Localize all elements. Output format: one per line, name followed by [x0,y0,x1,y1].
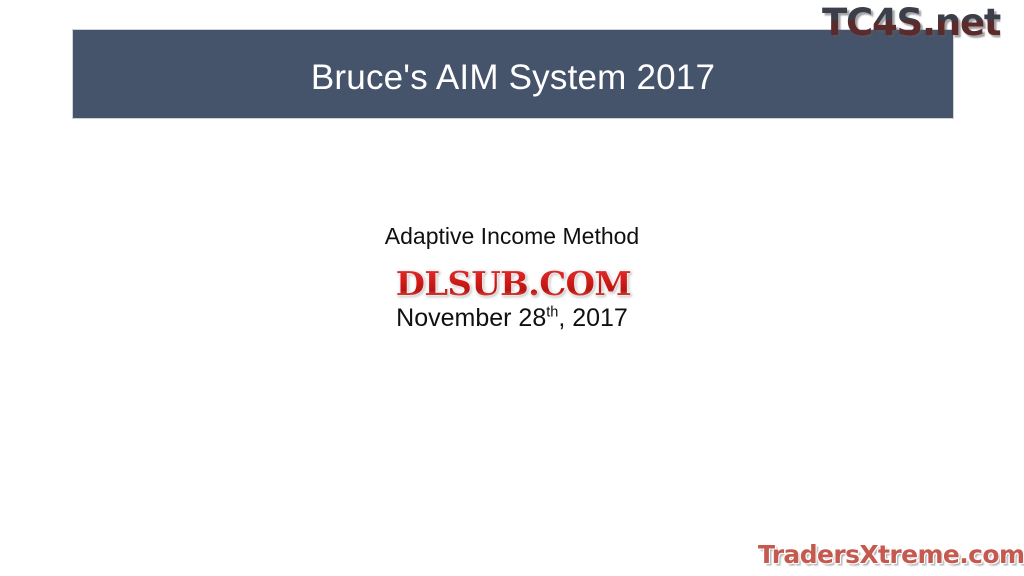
slide-title-banner: Bruce's AIM System 2017 [72,29,954,119]
slide-subtitle: Adaptive Income Method [0,222,1024,250]
tradersxtreme-watermark: TradersXtreme.com [758,540,1020,570]
slide-title: Bruce's AIM System 2017 [311,60,715,95]
date-suffix: , 2017 [558,304,628,332]
slide-date: November 28th, 2017 [0,303,1024,333]
slide-body: Adaptive Income Method November 28th, 20… [0,222,1024,333]
tradersxtreme-watermark-text: TradersXtreme.com [758,540,1024,569]
presentation-slide: Bruce's AIM System 2017 Adaptive Income … [0,0,1024,576]
date-prefix: November 28 [396,304,546,332]
date-ordinal-suffix: th [546,305,558,321]
